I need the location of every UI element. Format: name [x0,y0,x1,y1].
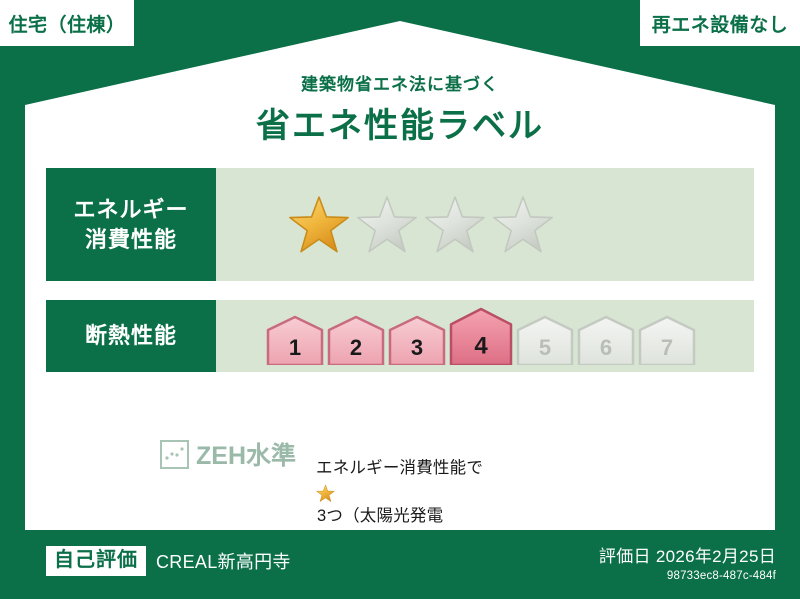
svg-text:2: 2 [350,335,362,360]
insulation-performance-value: 1234567 [216,300,754,372]
footer-left-group: 自己評価 CREAL新高円寺 [46,546,291,576]
insulation-level-1: 1 [266,315,324,365]
energy-performance-label: エネルギー 消費性能 [46,168,216,281]
svg-text:7: 7 [661,335,673,360]
building-type-tag: 住宅（住棟） [0,0,134,46]
zeh-logo-label: ZEH水準 [196,436,296,472]
self-evaluation-badge: 自己評価 [46,546,146,576]
star-rating [288,194,554,256]
renewable-energy-tag: 再エネ設備なし [640,0,800,46]
insulation-level-7: 7 [638,315,696,365]
insulation-level-6: 6 [577,315,635,365]
label-title: 省エネ性能ラベル [0,98,800,147]
insulation-level-scale: 1234567 [266,307,696,365]
insulation-level-2: 2 [327,315,385,365]
zeh-chart-icon [160,440,189,469]
building-type-tag-label: 住宅（住棟） [8,10,125,37]
star-filled [288,194,350,256]
svg-text:3: 3 [411,335,423,360]
svg-text:5: 5 [539,335,551,360]
zeh-logo: ZEH水準 [160,428,296,472]
zeh-description-part1: エネルギー消費性能で [316,459,483,477]
insulation-level-5: 5 [516,315,574,365]
footer-right-group: 評価日 2026年2月25日 98733ec8-487c-484f [599,542,776,582]
insulation-performance-label-text: 断熱性能 [85,321,177,350]
star-empty [424,194,486,256]
label-subtitle: 建築物省エネ法に基づく [0,70,800,95]
star-empty [356,194,418,256]
svg-text:1: 1 [289,335,301,360]
energy-performance-label-line1: エネルギー [73,195,188,224]
svg-text:4: 4 [474,332,488,359]
evaluation-date: 評価日 2026年2月25日 [599,542,776,567]
energy-performance-label-line2: 消費性能 [85,225,177,254]
star-empty [492,194,554,256]
label-footer: 自己評価 CREAL新高円寺 評価日 2026年2月25日 98733ec8-4… [0,530,800,599]
insulation-performance-row: 断熱性能 1234567 [46,300,754,372]
zeh-description-part2: 3つ（太陽光発電 [317,507,443,525]
evaluation-id: 98733ec8-487c-484f [599,570,776,582]
energy-performance-row: エネルギー 消費性能 [46,168,754,281]
svg-text:6: 6 [600,335,612,360]
building-name: CREAL新高円寺 [156,548,291,574]
insulation-performance-label: 断熱性能 [46,300,216,372]
renewable-energy-tag-label: 再エネ設備なし [652,10,789,37]
energy-performance-value [216,168,754,281]
insulation-level-3: 3 [388,315,446,365]
energy-performance-label: 住宅（住棟） 再エネ設備なし 建築物省エネ法に基づく 省エネ性能ラベル エネルギ… [0,0,800,599]
insulation-level-4: 4 [449,307,513,365]
inline-star-icon [316,484,560,503]
